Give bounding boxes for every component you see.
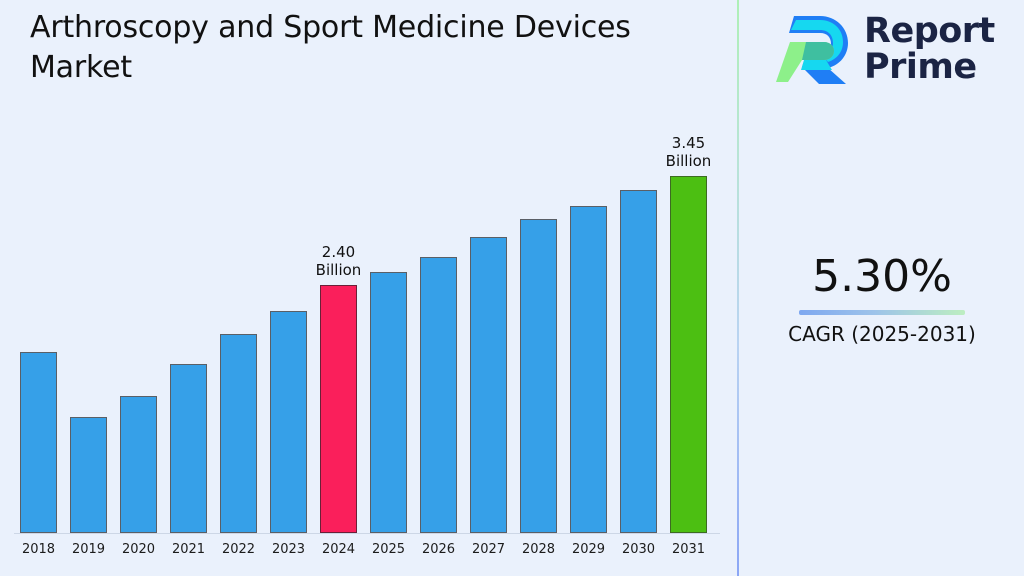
bar-2021 <box>170 364 207 533</box>
bar-2023 <box>270 311 307 533</box>
bar-2018 <box>20 352 57 533</box>
cagr-divider-rule <box>799 310 965 315</box>
bar-value-amount-2024: 2.40 <box>294 243 384 261</box>
bar-value-unit-2031: Billion <box>644 152 734 170</box>
brand-wordmark: Report Prime <box>864 13 995 85</box>
bar-2030 <box>620 190 657 533</box>
bar-value-amount-2031: 3.45 <box>644 134 734 152</box>
x-tick-2031: 2031 <box>659 542 719 557</box>
brand-panel: Report Prime 5.30% CAGR (2025-2031) <box>740 0 1024 576</box>
chart-panel: Arthroscopy and Sport Medicine Devices M… <box>0 0 738 576</box>
cagr-block: 5.30% CAGR (2025-2031) <box>740 252 1024 347</box>
bar-2031 <box>670 176 707 533</box>
bar-2027 <box>470 237 507 533</box>
bar-2029 <box>570 206 607 533</box>
panel-divider <box>737 0 739 576</box>
bar-2028 <box>520 219 557 533</box>
brand-wordmark-line2: Prime <box>864 49 995 85</box>
report-infographic: Arthroscopy and Sport Medicine Devices M… <box>0 0 1024 576</box>
brand-wordmark-line1: Report <box>864 13 995 49</box>
bar-2022 <box>220 334 257 533</box>
bar-value-label-2031: 3.45Billion <box>644 134 734 170</box>
report-prime-logo: Report Prime <box>776 10 995 88</box>
bar-2026 <box>420 257 457 533</box>
bar-2024 <box>320 285 357 533</box>
report-prime-logo-icon <box>776 10 850 88</box>
cagr-value: 5.30% <box>740 252 1024 302</box>
cagr-label: CAGR (2025-2031) <box>740 321 1024 347</box>
bar-chart: 2018201920202021202220232.40Billion20242… <box>0 0 738 576</box>
bar-2019 <box>70 417 107 533</box>
x-axis-line <box>14 533 720 534</box>
bar-2020 <box>120 396 157 533</box>
bar-2025 <box>370 272 407 533</box>
